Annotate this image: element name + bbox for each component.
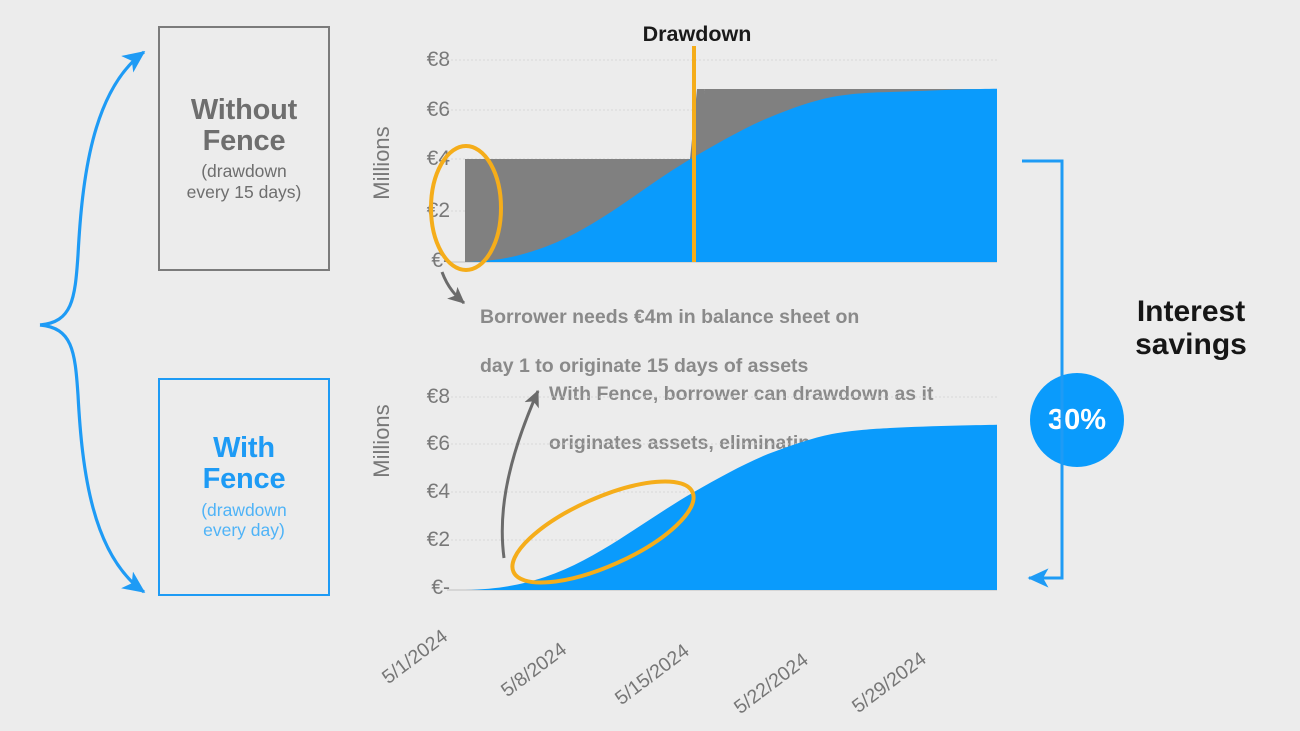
with-fence-title-line1: With bbox=[213, 432, 275, 464]
bottom-chart-callout-line1: With Fence, borrower can drawdown as it bbox=[549, 383, 933, 405]
without-fence-subtitle-line1: (drawdown bbox=[201, 161, 287, 181]
xtick-label-0: 5/1/2024 bbox=[378, 625, 452, 689]
with-fence-label-box[interactable]: With Fence (drawdown every day) bbox=[158, 378, 330, 596]
without-fence-subtitle-line2: every 15 days) bbox=[187, 182, 302, 202]
brace-arrow-to-with-box bbox=[40, 325, 144, 592]
without-fence-title-line1: Without bbox=[191, 94, 297, 126]
interest-savings-title-line2: savings bbox=[1135, 328, 1247, 361]
bottom-chart-callout: With Fence, borrower can drawdown as it … bbox=[549, 358, 1009, 456]
top-chart-callout-line1: Borrower needs €4m in balance sheet on bbox=[480, 306, 859, 328]
drawdown-marker-label: Drawdown bbox=[643, 22, 752, 47]
bottom-chart-ytick-4: €4 bbox=[390, 480, 450, 504]
top-chart-ytick-6: €6 bbox=[390, 98, 450, 122]
with-fence-subtitle: (drawdown every day) bbox=[201, 500, 287, 541]
left-brace-connector bbox=[40, 52, 144, 592]
top-chart-ytick-2: €2 bbox=[390, 199, 450, 223]
brace-arrow-to-without-box bbox=[40, 52, 144, 325]
without-fence-chart bbox=[431, 46, 997, 303]
bottom-chart-ytick-6: €6 bbox=[390, 432, 450, 456]
interest-savings-badge[interactable]: 30% bbox=[1030, 373, 1124, 467]
infographic-canvas: Without Fence (drawdown every 15 days) W… bbox=[0, 0, 1300, 731]
interest-savings-bracket bbox=[1022, 161, 1062, 578]
top-chart-ytick-0: €- bbox=[390, 249, 450, 273]
with-fence-title: With Fence bbox=[203, 433, 286, 494]
bottom-chart-callout-arrow bbox=[502, 391, 538, 558]
interest-savings-title: Interest savings bbox=[1096, 295, 1286, 361]
savings-bracket-path bbox=[1022, 161, 1062, 578]
xtick-label-4: 5/29/2024 bbox=[848, 648, 931, 719]
top-chart-ytick-4: €4 bbox=[390, 147, 450, 171]
without-fence-title-line2: Fence bbox=[203, 125, 286, 157]
top-chart-ytick-8: €8 bbox=[390, 48, 450, 72]
bottom-chart-ytick-8: €8 bbox=[390, 385, 450, 409]
top-chart-series-assets bbox=[465, 89, 997, 262]
bottom-chart-highlight-ellipse bbox=[500, 461, 707, 603]
top-chart-series-drawn-cash bbox=[465, 89, 997, 262]
without-fence-subtitle: (drawdown every 15 days) bbox=[187, 161, 302, 202]
without-fence-title: Without Fence bbox=[191, 95, 297, 156]
top-chart-gridlines bbox=[447, 60, 997, 211]
bottom-chart-callout-line2: originates assets, eliminating cash drag bbox=[549, 432, 920, 454]
xtick-label-2: 5/15/2024 bbox=[611, 640, 694, 711]
with-fence-subtitle-line2: every day) bbox=[203, 520, 285, 540]
top-chart-series-drawn-cash-step-edge bbox=[690, 89, 705, 159]
interest-savings-title-line1: Interest bbox=[1137, 295, 1245, 328]
with-fence-title-line2: Fence bbox=[203, 463, 286, 495]
with-fence-subtitle-line1: (drawdown bbox=[201, 500, 287, 520]
xtick-label-1: 5/8/2024 bbox=[497, 638, 571, 702]
top-chart-callout-arrow bbox=[442, 272, 464, 303]
bottom-chart-ytick-2: €2 bbox=[390, 528, 450, 552]
interest-savings-value: 30% bbox=[1048, 404, 1106, 437]
xtick-label-3: 5/22/2024 bbox=[730, 649, 813, 720]
without-fence-label-box[interactable]: Without Fence (drawdown every 15 days) bbox=[158, 26, 330, 271]
bottom-chart-ytick-0: €- bbox=[390, 576, 450, 600]
